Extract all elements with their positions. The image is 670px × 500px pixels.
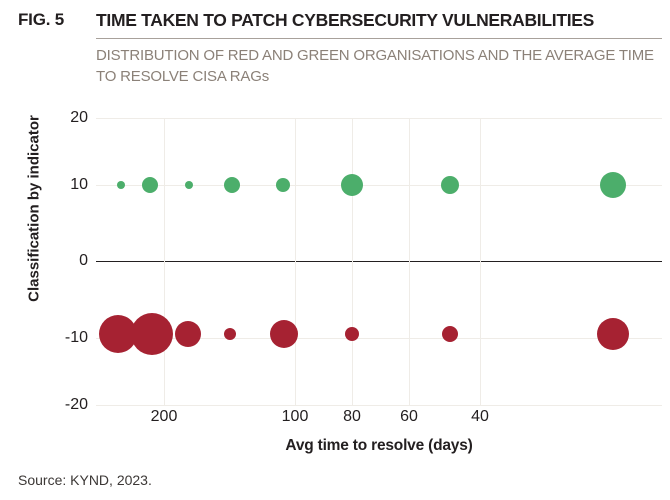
x-tick-60: 60 — [400, 408, 418, 426]
gridline-horizontal--20 — [96, 405, 662, 406]
data-bubble-red-6[interactable] — [442, 326, 458, 342]
data-bubble-green-4[interactable] — [276, 178, 290, 192]
data-bubble-red-2[interactable] — [175, 321, 201, 347]
gridline-horizontal-20 — [96, 118, 662, 119]
data-bubble-green-3[interactable] — [224, 177, 240, 193]
x-tick-80: 80 — [343, 408, 361, 426]
data-bubble-green-5[interactable] — [341, 174, 363, 196]
chart-title: TIME TAKEN TO PATCH CYBERSECURITY VULNER… — [96, 10, 662, 31]
chart-page: FIG. 5 TIME TAKEN TO PATCH CYBERSECURITY… — [0, 0, 670, 500]
x-axis-label: Avg time to resolve (days) — [96, 437, 662, 455]
data-bubble-green-6[interactable] — [441, 176, 459, 194]
figure-number-label: FIG. 5 — [18, 10, 64, 30]
data-bubble-green-2[interactable] — [185, 181, 193, 189]
y-tick-10: 10 — [42, 176, 88, 194]
source-note: Source: KYND, 2023. — [18, 472, 152, 488]
y-tick-0: 0 — [42, 252, 88, 270]
data-bubble-green-0[interactable] — [117, 181, 125, 189]
gridline-horizontal-0 — [96, 261, 662, 262]
gridline-vertical-40 — [480, 118, 481, 405]
title-divider — [96, 38, 662, 39]
data-bubble-green-1[interactable] — [142, 177, 158, 193]
x-tick-200: 200 — [151, 408, 178, 426]
gridline-vertical-60 — [409, 118, 410, 405]
plot-area — [96, 118, 662, 405]
gridline-vertical-200 — [164, 118, 165, 405]
gridline-vertical-100 — [295, 118, 296, 405]
y-tick--10: -10 — [42, 329, 88, 347]
x-tick-40: 40 — [471, 408, 489, 426]
x-axis-ticks: 200100806040 — [96, 408, 662, 432]
data-bubble-green-7[interactable] — [600, 172, 626, 198]
y-tick--20: -20 — [42, 396, 88, 414]
data-bubble-red-4[interactable] — [270, 320, 298, 348]
y-tick-20: 20 — [42, 109, 88, 127]
chart-subtitle: DISTRIBUTION OF RED AND GREEN ORGANISATI… — [96, 45, 666, 87]
x-tick-100: 100 — [282, 408, 309, 426]
data-bubble-red-7[interactable] — [597, 318, 629, 350]
data-bubble-red-5[interactable] — [345, 327, 359, 341]
data-bubble-red-1[interactable] — [131, 313, 173, 355]
y-axis-label: Classification by indicator — [26, 79, 43, 339]
data-bubble-red-3[interactable] — [224, 328, 236, 340]
gridline-vertical-80 — [352, 118, 353, 405]
gridline-horizontal-10 — [96, 185, 662, 186]
chart-header: FIG. 5 TIME TAKEN TO PATCH CYBERSECURITY… — [0, 0, 670, 100]
